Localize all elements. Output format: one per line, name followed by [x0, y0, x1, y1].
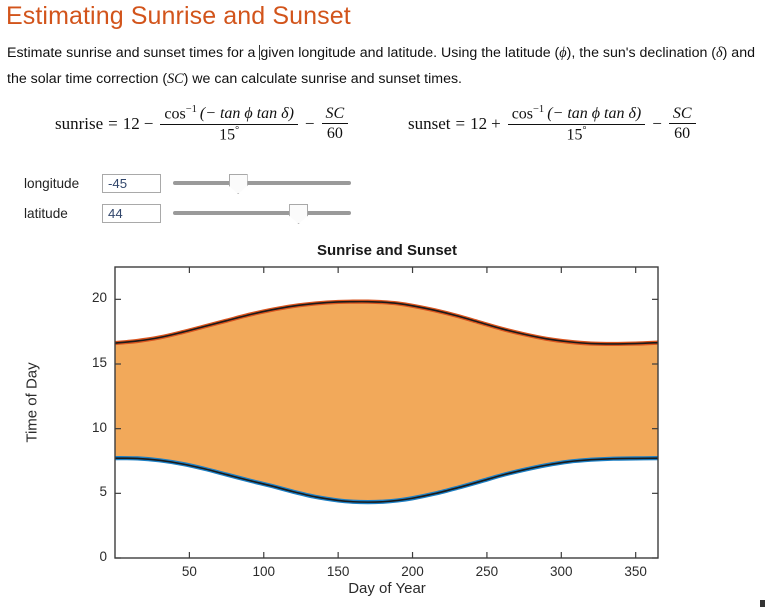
longitude-slider-track[interactable]	[173, 181, 351, 185]
equation-sunset-numerator: cos−1(− tan ϕ tan δ)	[508, 104, 646, 125]
equation-sunrise-denominator: 15°	[219, 125, 239, 144]
chart-x-tick-label: 200	[391, 564, 435, 579]
chart-y-axis-label: Time of Day	[24, 323, 41, 483]
latitude-slider[interactable]	[173, 202, 351, 224]
chart-y-tick-label: 15	[73, 355, 107, 370]
equation-sunset-equals: =	[456, 114, 466, 134]
intro-text-1: Estimate sunrise and sunset times for a	[7, 45, 259, 61]
arccos-argument: (− tan ϕ tan δ)	[547, 105, 641, 122]
degree-symbol: °	[582, 125, 586, 136]
equation-sunrise-numerator: cos−1(− tan ϕ tan δ)	[160, 104, 298, 125]
equation-sunset: sunset = 12 + cos−1(− tan ϕ tan δ) 15° −…	[408, 104, 699, 143]
latitude-control-row: latitude	[24, 202, 351, 224]
intro-text-2: given longitude and latitude. Using the …	[260, 45, 559, 61]
longitude-input[interactable]	[102, 174, 161, 193]
sc-numerator: SC	[669, 105, 696, 124]
sc-denominator: 60	[327, 124, 343, 142]
equation-sunrise: sunrise = 12 − cos−1(− tan ϕ tan δ) 15° …	[55, 104, 351, 143]
sc-denominator: 60	[674, 124, 690, 142]
equation-sunset-lhs: sunset	[408, 114, 451, 134]
longitude-label: longitude	[24, 176, 102, 191]
denominator-value: 15	[566, 126, 582, 143]
arccos-exponent: −1	[533, 104, 544, 115]
latitude-slider-thumb[interactable]	[289, 204, 308, 224]
chart-y-tick-label: 5	[73, 484, 107, 499]
equation-sunset-fraction-main: cos−1(− tan ϕ tan δ) 15°	[508, 104, 646, 143]
equation-sunset-fraction-sc: SC 60	[669, 105, 696, 143]
chart-x-tick-label: 250	[465, 564, 509, 579]
intro-text-3: ), the sun's declination (	[567, 45, 716, 61]
equation-sunset-denominator: 15°	[566, 125, 586, 144]
corner-marker	[760, 600, 765, 607]
longitude-slider[interactable]	[173, 172, 351, 194]
latitude-label: latitude	[24, 206, 102, 221]
longitude-control-row: longitude	[24, 172, 351, 194]
latitude-input[interactable]	[102, 204, 161, 223]
delta-symbol: δ	[716, 45, 723, 61]
sc-symbol: SC	[167, 71, 184, 87]
intro-text-5: ) we can calculate sunrise and sunset ti…	[184, 71, 462, 87]
chart-x-tick-label: 300	[539, 564, 583, 579]
arccos-label: cos	[512, 105, 533, 122]
equation-sunset-op2: −	[652, 114, 662, 134]
degree-symbol: °	[235, 125, 239, 136]
chart-y-tick-label: 20	[73, 290, 107, 305]
chart-y-tick-label: 10	[73, 420, 107, 435]
equation-sunrise-fraction-sc: SC 60	[322, 105, 349, 143]
chart-x-axis-label: Day of Year	[115, 580, 659, 597]
arccos-label: cos	[164, 105, 185, 122]
intro-paragraph: Estimate sunrise and sunset times for a …	[7, 40, 763, 92]
denominator-value: 15	[219, 126, 235, 143]
longitude-slider-thumb[interactable]	[229, 174, 248, 194]
sc-numerator: SC	[322, 105, 349, 124]
equation-sunrise-lhs: sunrise	[55, 114, 103, 134]
equation-sunset-op1: +	[491, 114, 501, 134]
chart-x-tick-label: 350	[614, 564, 658, 579]
equation-sunrise-op1: −	[144, 114, 154, 134]
chart-y-tick-label: 0	[73, 549, 107, 564]
arccos-exponent: −1	[186, 104, 197, 115]
chart-x-tick-label: 50	[167, 564, 211, 579]
equation-sunset-const: 12	[470, 114, 487, 134]
chart-x-tick-label: 150	[316, 564, 360, 579]
phi-symbol: ϕ	[559, 45, 566, 61]
arccos-argument: (− tan ϕ tan δ)	[200, 105, 294, 122]
equation-sunrise-equals: =	[108, 114, 118, 134]
page-title: Estimating Sunrise and Sunset	[6, 2, 351, 31]
sunrise-sunset-chart: Sunrise and Sunset Time of Day Day of Ye…	[0, 236, 770, 610]
equation-sunrise-const: 12	[123, 114, 140, 134]
chart-x-tick-label: 100	[242, 564, 286, 579]
latitude-slider-track[interactable]	[173, 211, 351, 215]
equation-sunrise-op2: −	[305, 114, 315, 134]
equation-sunrise-fraction-main: cos−1(− tan ϕ tan δ) 15°	[160, 104, 298, 143]
chart-plot-area	[0, 236, 770, 610]
